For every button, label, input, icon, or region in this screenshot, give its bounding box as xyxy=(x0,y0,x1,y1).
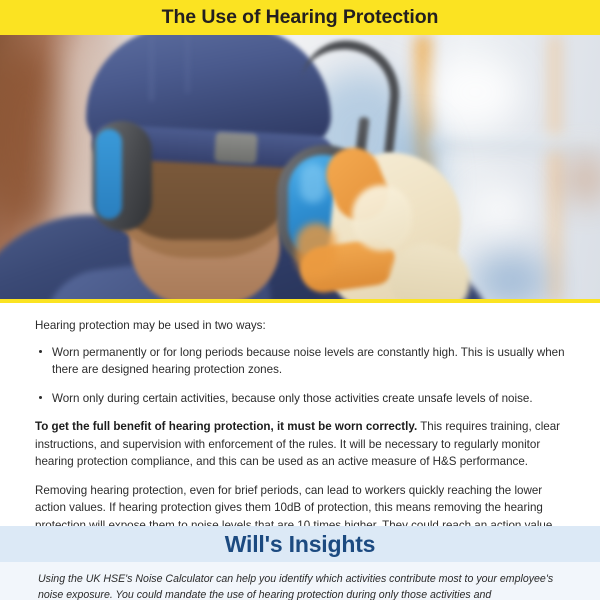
ear-defender-pad-highlight-icon xyxy=(300,163,326,203)
worker-cap-strap-icon xyxy=(214,132,258,164)
bullet-dot-icon xyxy=(39,396,42,399)
bullet-dot-icon xyxy=(39,350,42,353)
document-page: The Use of Hearing Protection xyxy=(0,0,600,600)
list-item-text: Worn permanently or for long periods bec… xyxy=(52,346,565,377)
list-item-text: Worn only during certain activities, bec… xyxy=(52,392,533,405)
worker-cap-seam2-icon xyxy=(186,35,189,93)
insights-title: Will's Insights xyxy=(225,533,376,556)
usage-list: Worn permanently or for long periods bec… xyxy=(35,344,565,408)
header-banner: The Use of Hearing Protection xyxy=(0,0,600,35)
background-blue-bottom-icon xyxy=(470,253,550,303)
paragraph-bold-leadin: To get the full benefit of hearing prote… xyxy=(35,420,417,433)
ear-defender-left-pad-icon xyxy=(96,129,122,219)
paragraph-correct-use: To get the full benefit of hearing prote… xyxy=(35,418,565,471)
glove-orange-edge-icon xyxy=(296,223,336,277)
glove-knuckle-icon xyxy=(352,185,412,251)
body-copy: Hearing protection may be used in two wa… xyxy=(0,303,600,552)
background-highlight-icon xyxy=(470,185,530,235)
insights-banner: Will's Insights xyxy=(0,526,600,562)
insights-body: Using the UK HSE's Noise Calculator can … xyxy=(0,562,600,600)
list-item: Worn permanently or for long periods bec… xyxy=(35,344,565,379)
page-title: The Use of Hearing Protection xyxy=(162,8,439,28)
hero-image xyxy=(0,35,600,303)
background-shelf-icon xyxy=(430,135,600,151)
insights-text: Using the UK HSE's Noise Calculator can … xyxy=(38,571,562,600)
worker-cap-seam-icon xyxy=(150,35,153,101)
lead-paragraph: Hearing protection may be used in two wa… xyxy=(35,317,565,335)
list-item: Worn only during certain activities, bec… xyxy=(35,390,565,408)
background-post-right-icon xyxy=(548,35,561,303)
background-warm-blob-icon xyxy=(565,155,600,203)
background-light-icon xyxy=(430,57,520,127)
hearing-protection-photo xyxy=(0,35,600,303)
